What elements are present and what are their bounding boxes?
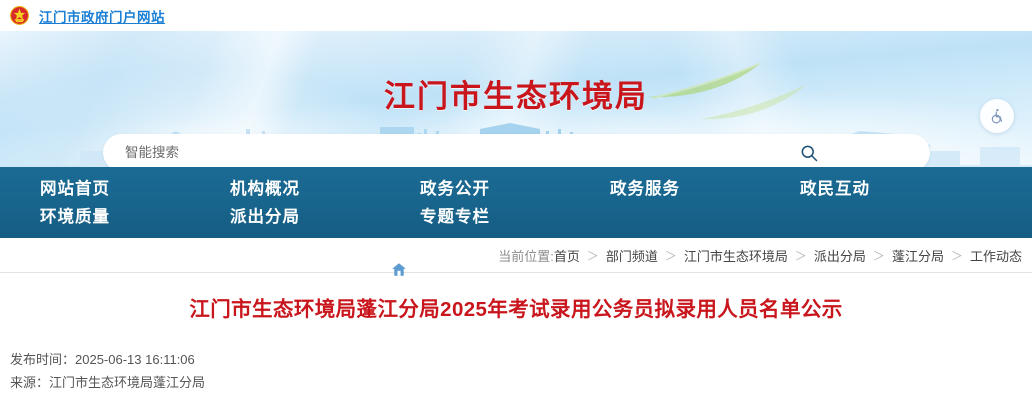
national-emblem-icon bbox=[9, 5, 30, 26]
nav-item-special-topics[interactable]: 专题专栏 bbox=[420, 203, 610, 231]
breadcrumb-separator: ＞ bbox=[873, 247, 885, 264]
site-banner: 江门市生态环境局 bbox=[0, 31, 1032, 167]
publish-time-row: 发布时间：2025-06-13 16:11:06 bbox=[10, 348, 1032, 371]
breadcrumb-item-department-channel[interactable]: 部门频道 bbox=[606, 246, 658, 265]
breadcrumb-separator: ＞ bbox=[951, 247, 963, 264]
article-section: 江门市生态环境局蓬江分局2025年考试录用公务员拟录用人员名单公示 发布时间：2… bbox=[0, 273, 1032, 394]
breadcrumb-separator: ＞ bbox=[587, 247, 599, 264]
breadcrumb-separator: ＞ bbox=[665, 247, 677, 264]
breadcrumb-label: 当前位置: bbox=[498, 246, 554, 265]
home-icon[interactable] bbox=[391, 262, 407, 277]
search-icon[interactable] bbox=[796, 140, 822, 166]
page-title: 江门市生态环境局 bbox=[0, 71, 1032, 116]
accessibility-wheelchair-icon bbox=[988, 107, 1006, 125]
source-row: 来源：江门市生态环境局蓬江分局 bbox=[10, 371, 1032, 394]
breadcrumb-item-branch-offices[interactable]: 派出分局 bbox=[814, 246, 866, 265]
nav-item-organization[interactable]: 机构概况 bbox=[230, 175, 420, 203]
article-meta: 发布时间：2025-06-13 16:11:06 来源：江门市生态环境局蓬江分局 bbox=[0, 348, 1032, 394]
breadcrumb-item-pengjiang-branch[interactable]: 蓬江分局 bbox=[892, 246, 944, 265]
search-bar[interactable] bbox=[103, 134, 930, 167]
article-title: 江门市生态环境局蓬江分局2025年考试录用公务员拟录用人员名单公示 bbox=[0, 295, 1032, 325]
nav-item-public-interaction[interactable]: 政民互动 bbox=[800, 175, 990, 203]
publish-time-label: 发布时间： bbox=[10, 352, 75, 367]
breadcrumb-item-bureau[interactable]: 江门市生态环境局 bbox=[684, 246, 788, 265]
nav-item-placeholder-2 bbox=[800, 203, 990, 231]
breadcrumb-bar: 当前位置: 首页 ＞ 部门频道 ＞ 江门市生态环境局 ＞ 派出分局 ＞ 蓬江分局… bbox=[0, 238, 1032, 272]
source-value: 江门市生态环境局蓬江分局 bbox=[49, 375, 205, 390]
breadcrumb-item-home[interactable]: 首页 bbox=[554, 246, 580, 265]
search-input[interactable] bbox=[125, 134, 796, 167]
nav-item-branch-offices[interactable]: 派出分局 bbox=[230, 203, 420, 231]
breadcrumb: 当前位置: 首页 ＞ 部门频道 ＞ 江门市生态环境局 ＞ 派出分局 ＞ 蓬江分局… bbox=[498, 246, 1022, 265]
top-government-bar: 江门市政府门户网站 bbox=[0, 0, 1032, 31]
breadcrumb-separator: ＞ bbox=[795, 247, 807, 264]
accessibility-button[interactable] bbox=[980, 99, 1014, 133]
breadcrumb-item-work-news[interactable]: 工作动态 bbox=[970, 246, 1022, 265]
nav-item-government-affairs[interactable]: 政务公开 bbox=[420, 175, 610, 203]
source-label: 来源： bbox=[10, 375, 49, 390]
nav-item-home[interactable]: 网站首页 bbox=[40, 175, 230, 203]
nav-item-environment-quality[interactable]: 环境质量 bbox=[40, 203, 230, 231]
government-portal-link[interactable]: 江门市政府门户网站 bbox=[39, 6, 165, 26]
nav-row-primary: 网站首页 机构概况 政务公开 政务服务 政民互动 bbox=[0, 175, 1032, 203]
main-navigation: 网站首页 机构概况 政务公开 政务服务 政民互动 环境质量 派出分局 专题专栏 bbox=[0, 167, 1032, 238]
nav-item-placeholder-1 bbox=[610, 203, 800, 231]
nav-item-government-services[interactable]: 政务服务 bbox=[610, 175, 800, 203]
publish-time-value: 2025-06-13 16:11:06 bbox=[75, 352, 195, 367]
nav-row-secondary: 环境质量 派出分局 专题专栏 bbox=[0, 203, 1032, 231]
